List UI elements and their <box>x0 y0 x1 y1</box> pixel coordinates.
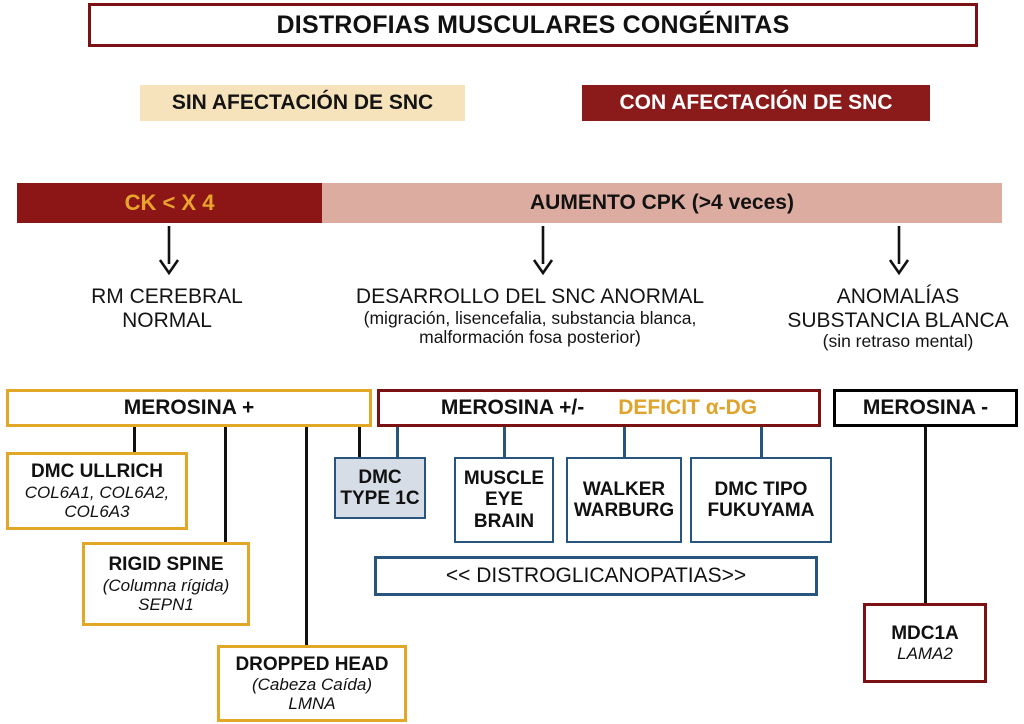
connector-merosina-plus-to-rigid-spine <box>224 427 227 542</box>
connector-merosina-plus-to-dmc-type-1c <box>358 427 361 457</box>
arrow-down-to-desarrollo-snc <box>530 226 556 276</box>
outcome-line: SUBSTANCIA BLANCA <box>772 309 1024 333</box>
node-dmc-type-1c: DMC TYPE 1C <box>334 457 426 519</box>
node-title-line: EYE <box>485 489 523 510</box>
chip-sin-afectacion-snc: SIN AFECTACIÓN DE SNC <box>140 85 465 121</box>
node-dropped-head: DROPPED HEAD (Cabeza Caída) LMNA <box>217 645 407 722</box>
node-gene: COL6A3 <box>64 502 129 521</box>
outcome-subline: (migración, lisencefalia, substancia bla… <box>300 309 760 329</box>
node-mdc1a: MDC1A LAMA2 <box>863 603 987 683</box>
node-dmc-tipo-fukuyama: DMC TIPO FUKUYAMA <box>690 457 832 543</box>
outcome-line: NORMAL <box>52 309 282 333</box>
connector-merosina-pm-to-walker-warburg <box>623 427 626 457</box>
node-title-line: DMC TIPO <box>715 479 808 500</box>
outcome-desarrollo-snc-anormal: DESARROLLO DEL SNC ANORMAL (migración, l… <box>300 285 760 348</box>
node-title: DROPPED HEAD <box>235 654 388 675</box>
bar-distroglicanopatias: << DISTROGLICANOPATIAS>> <box>374 556 818 596</box>
node-muscle-eye-brain: MUSCLE EYE BRAIN <box>454 457 554 543</box>
node-title: MDC1A <box>891 623 959 644</box>
chip-sin-afectacion-label: SIN AFECTACIÓN DE SNC <box>172 91 433 115</box>
outcome-subline: (sin retraso mental) <box>772 332 1024 352</box>
outcome-line: ANOMALÍAS <box>772 285 1024 309</box>
node-gene: LMNA <box>288 694 335 713</box>
connector-merosina-pm-to-muscle-eye-brain <box>503 427 506 457</box>
node-dmc-ullrich: DMC ULLRICH COL6A1, COL6A2, COL6A3 <box>6 452 188 530</box>
band-ck-low: CK < X 4 <box>17 183 322 223</box>
bar-merosina-plus-minus-label: MEROSINA +/- <box>441 396 584 420</box>
bar-merosina-minus: MEROSINA - <box>833 389 1018 427</box>
band-ck-low-label: CK < X 4 <box>125 190 215 216</box>
band-cpk-high-label: AUMENTO CPK (>4 veces) <box>530 191 794 215</box>
node-title-line: DMC <box>358 467 401 488</box>
diagram-canvas: DISTROFIAS MUSCULARES CONGÉNITAS SIN AFE… <box>0 0 1024 724</box>
node-gene: (Columna rígida) <box>103 576 230 595</box>
node-gene: LAMA2 <box>897 644 953 663</box>
node-rigid-spine: RIGID SPINE (Columna rígida) SEPN1 <box>82 542 250 626</box>
connector-merosina-plus-to-ullrich <box>133 427 136 452</box>
outcome-line: RM CEREBRAL <box>52 285 282 309</box>
bar-merosina-plus: MEROSINA + <box>6 389 372 427</box>
node-gene: (Cabeza Caída) <box>252 675 372 694</box>
connector-merosina-pm-to-dmc-type-1c <box>396 427 399 457</box>
connector-merosina-minus-to-mdc1a <box>924 427 927 603</box>
band-cpk-high: AUMENTO CPK (>4 veces) <box>322 183 1002 223</box>
arrow-down-to-rm-cerebral <box>156 226 182 276</box>
bar-distroglicanopatias-label: << DISTROGLICANOPATIAS>> <box>446 564 746 588</box>
node-gene: SEPN1 <box>138 595 194 614</box>
bar-deficit-alpha-dg-label: DEFICIT α-DG <box>618 396 757 420</box>
bar-merosina-plus-minus: MEROSINA +/- DEFICIT α-DG <box>377 389 821 427</box>
node-walker-warburg: WALKER WARBURG <box>566 457 682 543</box>
outcome-line: DESARROLLO DEL SNC ANORMAL <box>300 285 760 309</box>
arrow-down-to-anomalias <box>886 226 912 276</box>
node-title-line: MUSCLE <box>464 468 544 489</box>
node-title: DMC ULLRICH <box>31 461 163 482</box>
outcome-anomalias-substancia-blanca: ANOMALÍAS SUBSTANCIA BLANCA (sin retraso… <box>772 285 1024 352</box>
node-title-line: WALKER <box>583 479 665 500</box>
outcome-rm-cerebral-normal: RM CEREBRAL NORMAL <box>52 285 282 332</box>
node-title: RIGID SPINE <box>108 554 223 575</box>
node-title-line: FUKUYAMA <box>708 500 815 521</box>
page-title-label: DISTROFIAS MUSCULARES CONGÉNITAS <box>277 11 790 40</box>
bar-merosina-minus-label: MEROSINA - <box>863 396 988 420</box>
outcome-subline: malformación fosa posterior) <box>300 328 760 348</box>
bar-merosina-plus-label: MEROSINA + <box>124 396 255 420</box>
node-gene: COL6A1, COL6A2, <box>25 483 170 502</box>
connector-merosina-plus-to-dropped-head <box>305 427 308 645</box>
chip-con-afectacion-snc: CON AFECTACIÓN DE SNC <box>582 85 930 121</box>
node-title-line: WARBURG <box>574 500 674 521</box>
node-title-line: BRAIN <box>474 511 534 532</box>
node-title-line: TYPE 1C <box>340 488 419 509</box>
page-title: DISTROFIAS MUSCULARES CONGÉNITAS <box>88 3 978 47</box>
chip-con-afectacion-label: CON AFECTACIÓN DE SNC <box>620 91 893 115</box>
connector-merosina-pm-to-fukuyama <box>760 427 763 457</box>
